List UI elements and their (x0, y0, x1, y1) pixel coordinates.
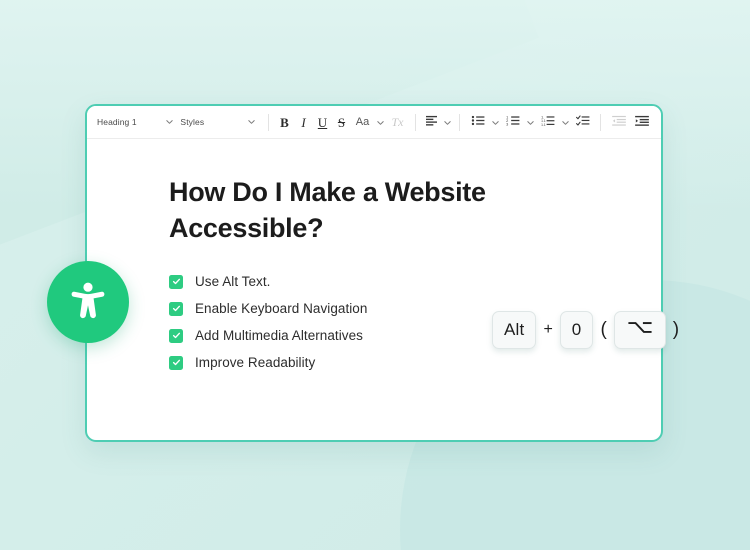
toolbar-separator (415, 114, 416, 131)
checkbox-checked-icon[interactable] (169, 302, 183, 316)
strikethrough-icon: S (338, 116, 345, 129)
key-alt[interactable]: Alt (492, 311, 536, 349)
list-item-label: Use Alt Text. (195, 274, 270, 289)
decrease-indent-icon (612, 113, 626, 131)
italic-icon: I (301, 116, 305, 129)
font-size-icon: Aa (356, 117, 369, 128)
multilevel-list-chevron-down-icon[interactable] (559, 112, 571, 133)
styles-value: Styles (180, 117, 204, 127)
decrease-indent-button[interactable] (607, 112, 630, 133)
chevron-down-icon (247, 113, 256, 131)
checkbox-checked-icon[interactable] (169, 275, 183, 289)
bold-icon: B (280, 116, 289, 129)
checklist-button[interactable] (571, 112, 594, 133)
list-item[interactable]: Use Alt Text. (169, 274, 661, 289)
toolbar-separator (600, 114, 601, 131)
increase-indent-button[interactable] (630, 112, 653, 133)
editor-toolbar: Heading 1 Styles B I U (87, 106, 661, 139)
editor-card: Heading 1 Styles B I U (85, 104, 663, 442)
align-left-icon (425, 113, 438, 131)
bold-button[interactable]: B (275, 112, 294, 133)
key-option[interactable] (614, 311, 666, 349)
font-size-chevron-down-icon[interactable] (374, 112, 386, 133)
page-title: How Do I Make a Website Accessible? (169, 175, 559, 246)
font-size-button[interactable]: Aa (351, 112, 374, 133)
option-key-icon (628, 320, 652, 340)
svg-text:3: 3 (506, 123, 508, 126)
clear-formatting-button[interactable]: Tx (386, 112, 409, 133)
align-chevron-down-icon[interactable] (441, 112, 453, 133)
checklist-icon (576, 113, 590, 131)
numbered-list-button[interactable]: 1 2 3 (501, 112, 524, 133)
multilevel-list-button[interactable]: 1. 1.1 1.1 (536, 112, 559, 133)
accessibility-badge[interactable] (47, 261, 129, 343)
keyboard-shortcut: Alt + 0 ( ) (492, 311, 679, 349)
styles-select[interactable]: Styles (180, 111, 262, 133)
bulleted-list-chevron-down-icon[interactable] (489, 112, 501, 133)
numbered-list-icon: 1 2 3 (506, 113, 520, 131)
list-item-label: Add Multimedia Alternatives (195, 328, 363, 343)
heading-style-select[interactable]: Heading 1 (97, 111, 180, 133)
svg-text:1.1: 1.1 (541, 123, 546, 126)
underline-icon: U (318, 116, 327, 129)
list-item-label: Improve Readability (195, 355, 315, 370)
bulleted-list-button[interactable] (466, 112, 489, 133)
list-item[interactable]: Improve Readability (169, 355, 661, 370)
checkbox-checked-icon[interactable] (169, 356, 183, 370)
toolbar-separator (459, 114, 460, 131)
italic-button[interactable]: I (294, 112, 313, 133)
numbered-list-chevron-down-icon[interactable] (524, 112, 536, 133)
heading-style-value: Heading 1 (97, 117, 137, 127)
shortcut-paren-close: ) (673, 319, 679, 341)
strikethrough-button[interactable]: S (332, 112, 351, 133)
list-item-label: Enable Keyboard Navigation (195, 301, 367, 316)
shortcut-paren-open: ( (600, 319, 606, 341)
toolbar-separator (268, 114, 269, 131)
accessibility-person-icon (66, 278, 110, 327)
increase-indent-icon (635, 113, 649, 131)
screenshot-stage: Heading 1 Styles B I U (0, 0, 750, 550)
checkbox-checked-icon[interactable] (169, 329, 183, 343)
key-zero[interactable]: 0 (560, 311, 594, 349)
clear-formatting-icon: Tx (392, 116, 404, 128)
chevron-down-icon (165, 113, 174, 131)
multilevel-list-icon: 1. 1.1 1.1 (541, 113, 555, 131)
underline-button[interactable]: U (313, 112, 332, 133)
bulleted-list-icon (471, 113, 485, 131)
shortcut-plus: + (543, 321, 552, 339)
align-button[interactable] (422, 112, 441, 133)
